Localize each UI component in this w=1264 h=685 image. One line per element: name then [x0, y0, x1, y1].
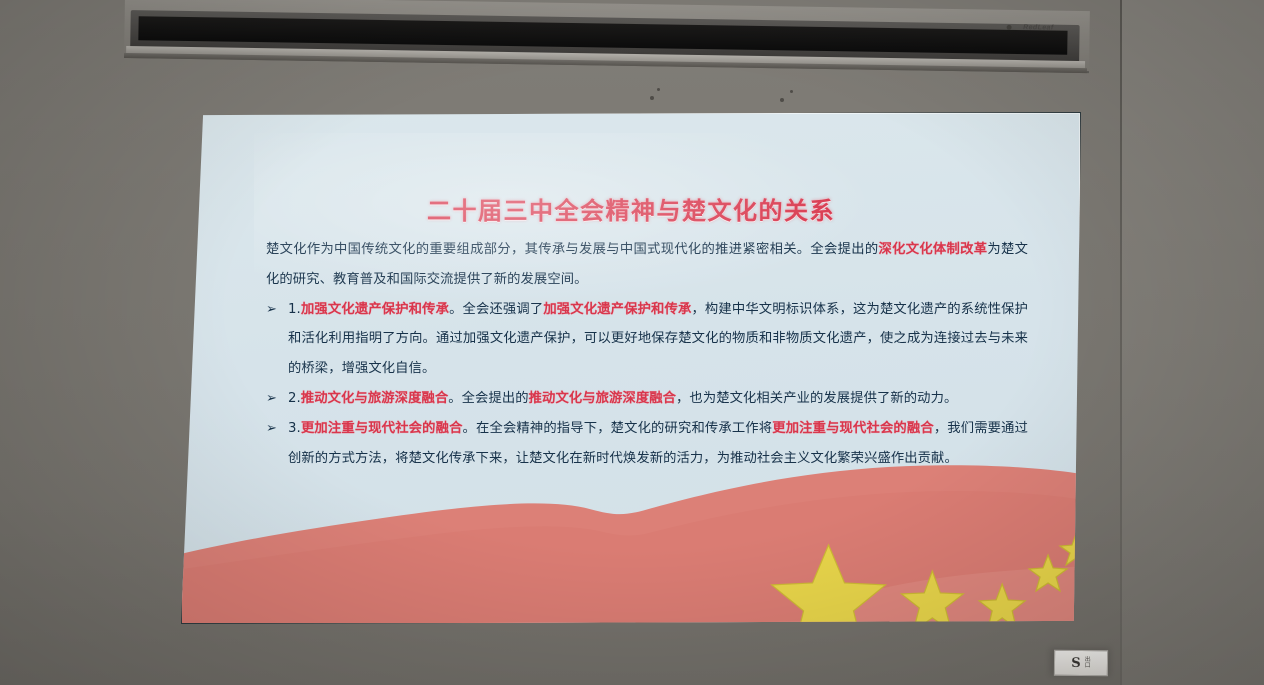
slide-title: 二十届三中全会精神与楚文化的关系 [182, 191, 1080, 226]
wall-sign-line2: 口 [1085, 663, 1091, 669]
room-wall: RedLeaf [0, 0, 1264, 685]
wall-sign-text: 出 口 [1085, 657, 1091, 669]
item-highlight: 更加注重与现代社会的融合 [772, 421, 934, 436]
wall-mark [790, 90, 793, 93]
projected-slide: 二十届三中全会精神与楚文化的关系 楚文化作为中国传统文化的重要组成部分，其传承与… [181, 112, 1081, 624]
wall-panel-right [1122, 0, 1264, 685]
chevron-bullet-icon: ➢ [266, 295, 277, 325]
list-item: ➢3.更加注重与现代社会的融合。在全会精神的指导下，楚文化的研究和传承工作将更加… [266, 414, 1028, 474]
projector-screen-valance: RedLeaf [124, 0, 1090, 73]
item-number: 2. [288, 391, 301, 406]
slide-wave-decoration [181, 455, 1081, 623]
item-lead: 。全会还强调了 [449, 302, 543, 317]
chevron-bullet-icon: ➢ [266, 414, 277, 444]
item-lead: 。在全会精神的指导下，楚文化的研究和传承工作将 [463, 421, 773, 436]
item-lead: 。全会提出的 [448, 391, 528, 406]
wall-mark [650, 96, 654, 100]
wall-sign-glyph: S [1071, 655, 1081, 670]
item-heading: 推动文化与旅游深度融合 [301, 391, 448, 406]
list-item: ➢1.加强文化遗产保护和传承。全会还强调了加强文化遗产保护和传承，构建中华文明标… [266, 295, 1028, 384]
wall-seam [1120, 0, 1122, 685]
item-heading: 加强文化遗产保护和传承 [301, 302, 449, 317]
wave-shape [181, 455, 1081, 623]
list-item: ➢2.推动文化与旅游深度融合。全会提出的推动文化与旅游深度融合，也为楚文化相关产… [266, 384, 1028, 414]
slide-body: 楚文化作为中国传统文化的重要组成部分，其传承与发展与中国式现代化的推进紧密相关。… [266, 235, 1028, 473]
wall-sign: S 出 口 [1054, 650, 1108, 677]
valance-brand-label: RedLeaf [1023, 24, 1054, 31]
item-highlight: 加强文化遗产保护和传承 [543, 302, 691, 317]
item-heading: 更加注重与现代社会的融合 [301, 421, 463, 436]
item-number: 3. [288, 421, 301, 436]
intro-text-1: 楚文化作为中国传统文化的重要组成部分，其传承与发展与中国式现代化的推进紧密相关。… [266, 242, 878, 257]
item-body: ，也为楚文化相关产业的发展提供了新的动力。 [676, 391, 957, 406]
chevron-bullet-icon: ➢ [266, 384, 277, 414]
slide-canvas: 二十届三中全会精神与楚文化的关系 楚文化作为中国传统文化的重要组成部分，其传承与… [181, 112, 1081, 624]
item-number: 1. [288, 302, 301, 317]
item-highlight: 推动文化与旅游深度融合 [529, 391, 676, 406]
intro-highlight: 深化文化体制改革 [878, 242, 987, 257]
intro-paragraph: 楚文化作为中国传统文化的重要组成部分，其传承与发展与中国式现代化的推进紧密相关。… [266, 235, 1028, 295]
wall-mark [657, 88, 660, 91]
brand-dot-icon [1007, 25, 1012, 30]
wall-mark [780, 98, 784, 102]
